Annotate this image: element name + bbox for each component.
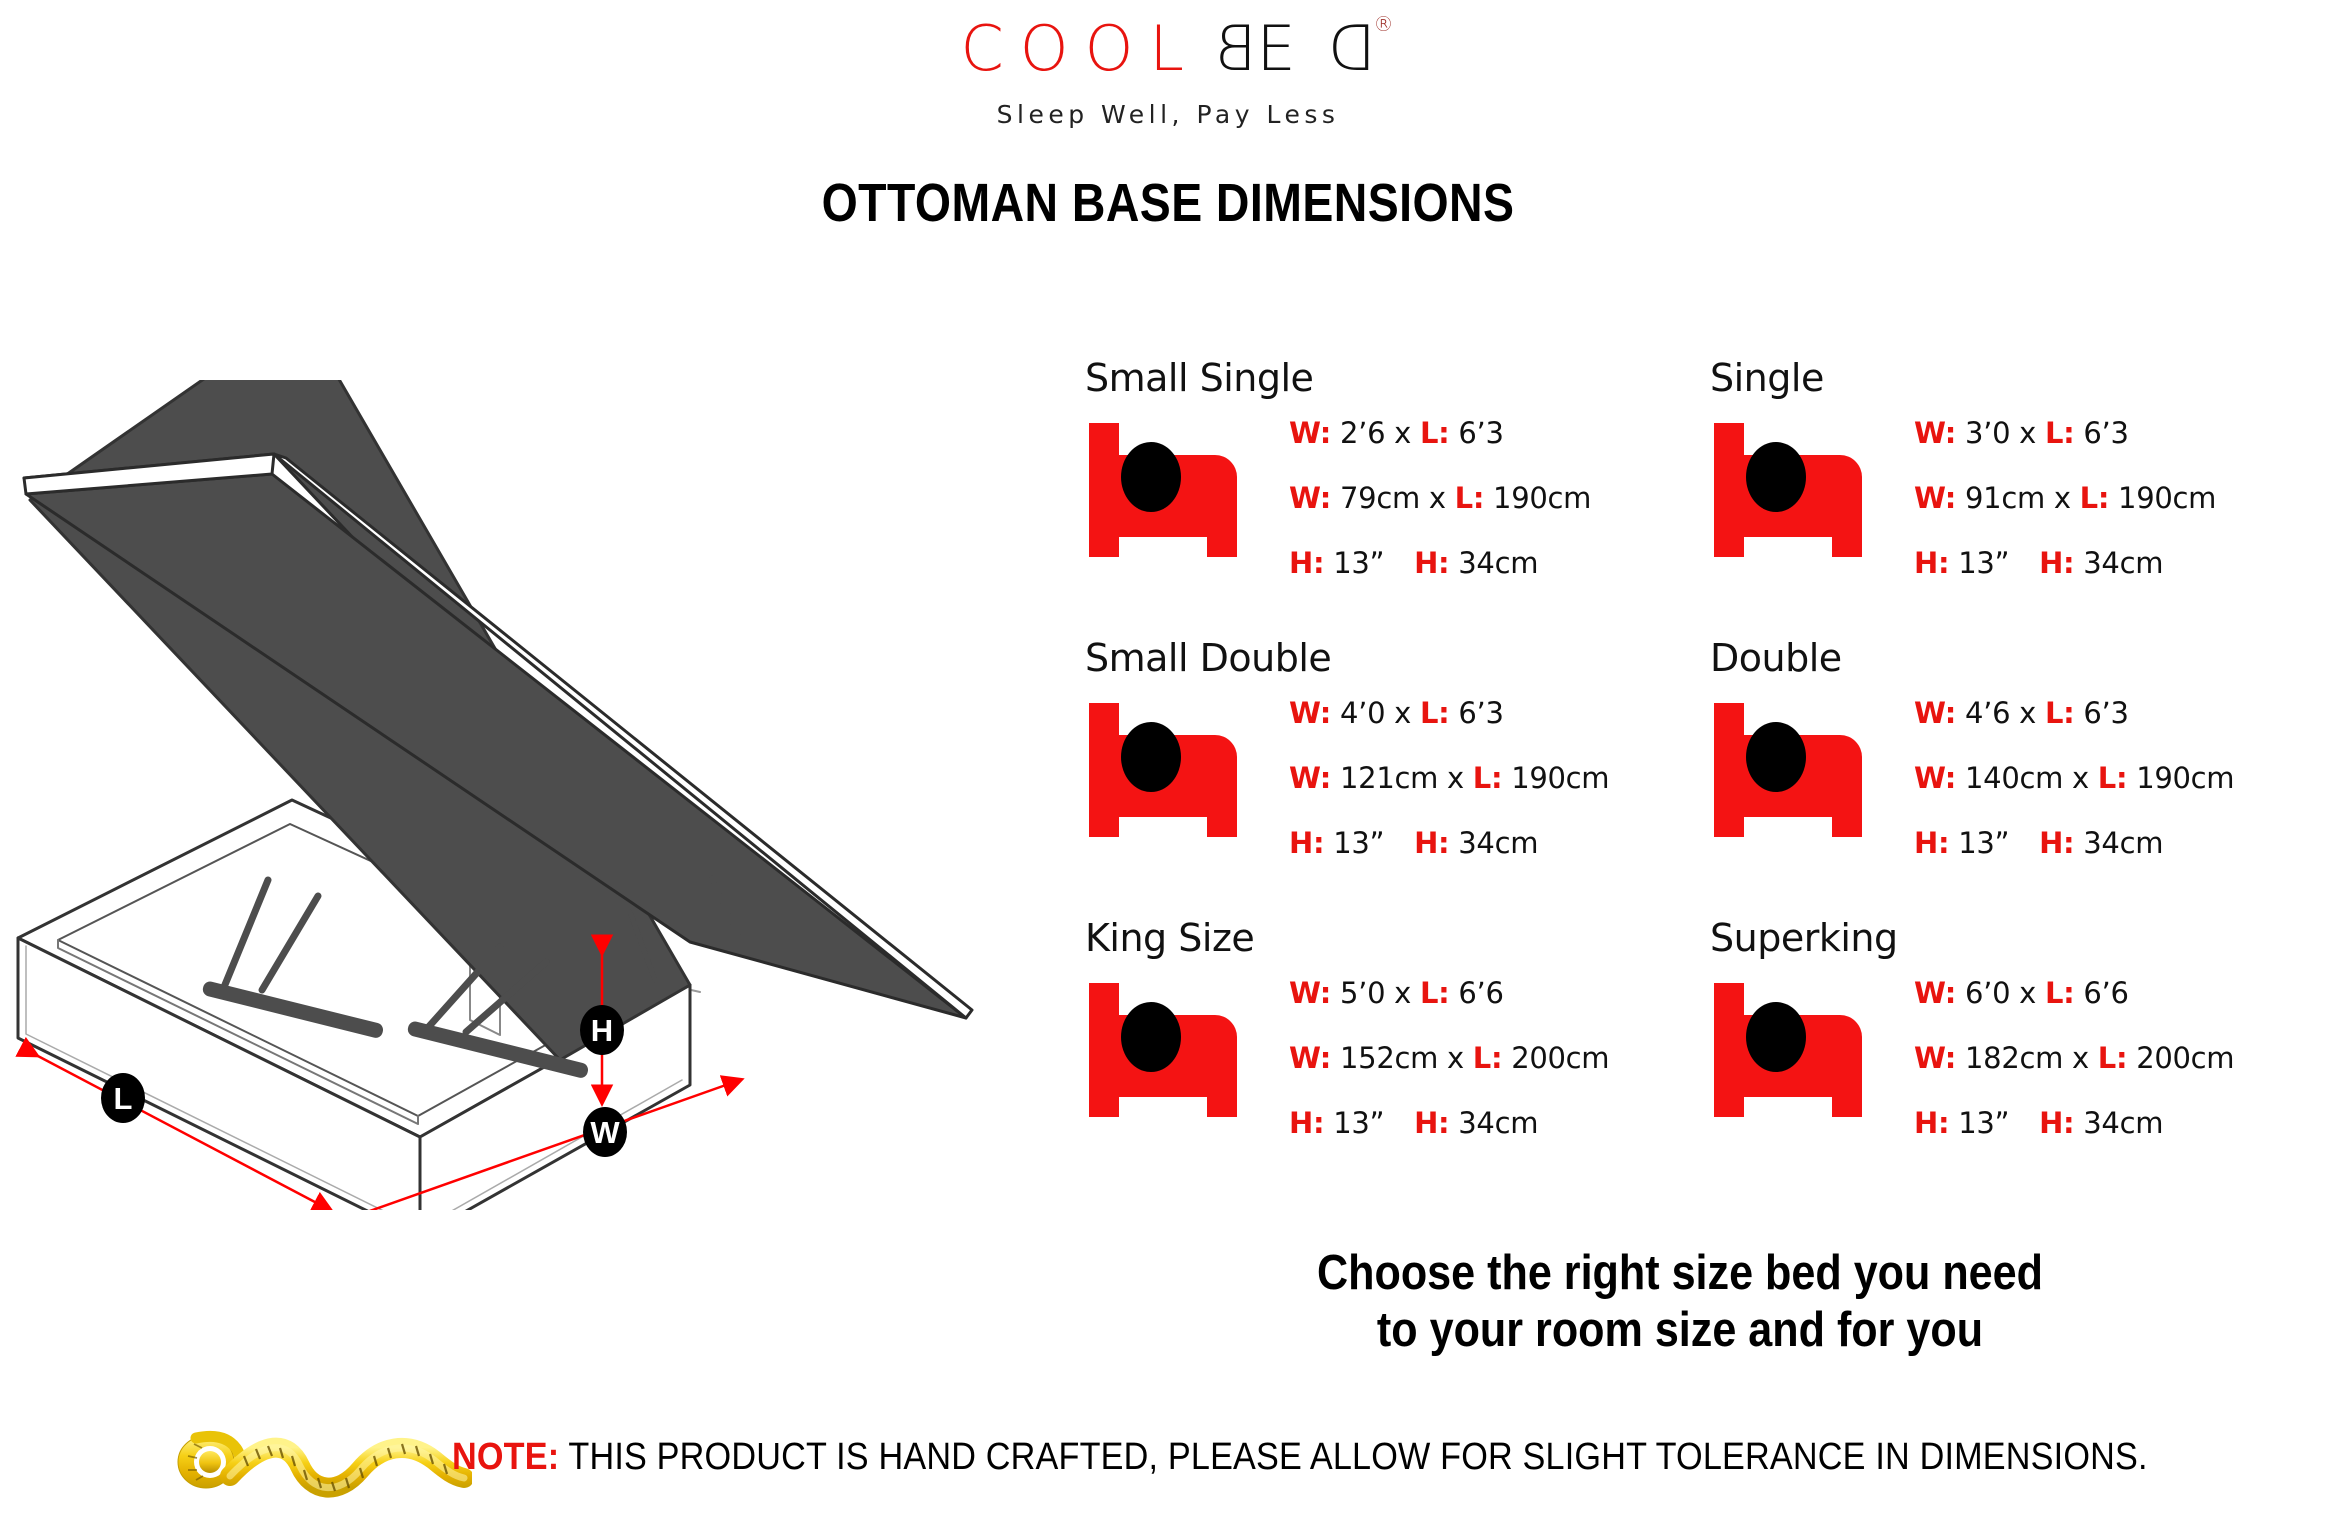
spec-separator: x (2019, 976, 2036, 1010)
size-block-small-single: Small Single W: 2’6 x L: 6’3 W: (1085, 355, 1685, 601)
spec-value-h-imperial: 13” (1958, 1106, 2009, 1140)
spec-line-metric: W: 140cm x L: 190cm (1914, 764, 2314, 793)
spec-key-l: L: (1473, 1041, 1502, 1075)
spec-key-w: W: (1914, 1041, 1956, 1075)
size-block-single: Single W: 3’0 x L: 6’3 W: (1710, 355, 2310, 601)
spec-key-w: W: (1914, 696, 1956, 730)
spec-list: W: 6’0 x L: 6’6 W: 182cm x L: 200cm H: 1… (1914, 979, 2314, 1138)
logo-bed-text: BED (1200, 12, 1376, 85)
spec-line-metric: W: 182cm x L: 200cm (1914, 1044, 2314, 1073)
spec-line-height: H: 13” H: 34cm (1914, 829, 2314, 858)
spec-value-w: 3’0 (1965, 416, 2010, 450)
brand-tagline: Sleep Well, Pay Less (0, 100, 2336, 129)
size-title: Double (1710, 635, 2310, 687)
spec-value-h-metric: 34cm (1458, 826, 1538, 860)
spec-key-l: L: (2045, 696, 2074, 730)
size-title: King Size (1085, 915, 1685, 967)
height-marker-label: H (591, 1013, 613, 1048)
spec-line-height: H: 13” H: 34cm (1914, 549, 2314, 578)
spec-value-l: 6’6 (1458, 976, 1503, 1010)
spec-value-l: 6’3 (1458, 416, 1503, 450)
spec-key-h-imperial: H: (1289, 826, 1324, 860)
spec-key-w: W: (1289, 976, 1331, 1010)
size-title: Single (1710, 355, 2310, 407)
spec-key-w: W: (1289, 761, 1331, 795)
spec-line-height: H: 13” H: 34cm (1914, 1109, 2314, 1138)
spec-line-imperial: W: 5’0 x L: 6’6 (1289, 979, 1689, 1008)
spec-key-w: W: (1914, 481, 1956, 515)
spec-key-h-metric: H: (2039, 1106, 2074, 1140)
spec-separator: x (1394, 696, 1411, 730)
spec-value-w: 6’0 (1965, 976, 2010, 1010)
spec-key-h-imperial: H: (1289, 1106, 1324, 1140)
size-block-double: Double W: 4’6 x L: 6’3 W: (1710, 635, 2310, 881)
spec-value-w: 152cm (1340, 1041, 1438, 1075)
spec-separator: x (1394, 416, 1411, 450)
spec-value-l: 200cm (1511, 1041, 1609, 1075)
spec-value-l: 190cm (1493, 481, 1591, 515)
logo-cool-text: COOL (961, 12, 1200, 85)
spec-list: W: 2’6 x L: 6’3 W: 79cm x L: 190cm H: 13… (1289, 419, 1689, 578)
spec-key-l: L: (2045, 976, 2074, 1010)
spec-value-w: 4’6 (1965, 696, 2010, 730)
header: COOLBED® Sleep Well, Pay Less OTTOMAN BA… (0, 0, 2336, 250)
spec-separator: x (1429, 481, 1446, 515)
spec-value-l: 190cm (2136, 761, 2234, 795)
size-title: Small Single (1085, 355, 1685, 407)
spec-key-w: W: (1914, 761, 1956, 795)
spec-value-l: 6’3 (2083, 416, 2128, 450)
spec-key-h-metric: H: (1414, 826, 1449, 860)
spec-key-l: L: (1420, 976, 1449, 1010)
ottoman-base-diagram: L W H (0, 380, 1060, 1210)
cta-line-1: Choose the right size bed you need (1214, 1245, 2147, 1302)
note-body: THIS PRODUCT IS HAND CRAFTED, PLEASE ALL… (568, 1436, 2147, 1478)
bed-icon (1085, 415, 1270, 575)
spec-value-h-metric: 34cm (2083, 546, 2163, 580)
spec-separator: x (2072, 1041, 2089, 1075)
spec-key-w: W: (1289, 481, 1331, 515)
call-to-action: Choose the right size bed you need to yo… (1214, 1245, 2147, 1359)
spec-value-l: 190cm (1511, 761, 1609, 795)
spec-value-l: 200cm (2136, 1041, 2234, 1075)
spec-key-h-metric: H: (1414, 1106, 1449, 1140)
spec-value-h-imperial: 13” (1958, 826, 2009, 860)
tape-measure-icon (172, 1414, 472, 1510)
spec-separator: x (1447, 1041, 1464, 1075)
spec-line-metric: W: 121cm x L: 190cm (1289, 764, 1689, 793)
spec-line-height: H: 13” H: 34cm (1289, 829, 1689, 858)
spec-line-height: H: 13” H: 34cm (1289, 549, 1689, 578)
size-block-small-double: Small Double W: 4’0 x L: 6’3 W: (1085, 635, 1685, 881)
bed-icon (1710, 695, 1895, 855)
spec-separator: x (1394, 976, 1411, 1010)
spec-key-w: W: (1914, 416, 1956, 450)
spec-key-l: L: (2098, 761, 2127, 795)
spec-separator: x (1447, 761, 1464, 795)
spec-value-w: 79cm (1340, 481, 1420, 515)
spec-value-h-imperial: 13” (1333, 826, 1384, 860)
size-title: Superking (1710, 915, 2310, 967)
spec-value-h-metric: 34cm (1458, 1106, 1538, 1140)
spec-separator: x (2072, 761, 2089, 795)
spec-value-w: 4’0 (1340, 696, 1385, 730)
spec-value-w: 121cm (1340, 761, 1438, 795)
spec-list: W: 4’6 x L: 6’3 W: 140cm x L: 190cm H: 1… (1914, 699, 2314, 858)
spec-list: W: 3’0 x L: 6’3 W: 91cm x L: 190cm H: 13… (1914, 419, 2314, 578)
spec-separator: x (2019, 696, 2036, 730)
bed-icon (1085, 695, 1270, 855)
spec-value-l: 6’3 (2083, 696, 2128, 730)
spec-key-l: L: (1473, 761, 1502, 795)
spec-key-w: W: (1289, 416, 1331, 450)
spec-line-metric: W: 91cm x L: 190cm (1914, 484, 2314, 513)
spec-separator: x (2019, 416, 2036, 450)
size-block-king-size: King Size W: 5’0 x L: 6’6 W: (1085, 915, 1685, 1161)
bed-icon (1085, 975, 1270, 1135)
spec-key-h-imperial: H: (1914, 1106, 1949, 1140)
spec-key-w: W: (1914, 976, 1956, 1010)
spec-key-h-metric: H: (1414, 546, 1449, 580)
spec-key-l: L: (1420, 416, 1449, 450)
spec-value-w: 2’6 (1340, 416, 1385, 450)
spec-key-h-imperial: H: (1914, 546, 1949, 580)
spec-line-metric: W: 79cm x L: 190cm (1289, 484, 1689, 513)
spec-value-h-imperial: 13” (1333, 546, 1384, 580)
width-marker-label: W (590, 1115, 620, 1150)
spec-line-metric: W: 152cm x L: 200cm (1289, 1044, 1689, 1073)
spec-value-w: 91cm (1965, 481, 2045, 515)
logo-text: COOLBED® (961, 18, 1376, 80)
spec-list: W: 4’0 x L: 6’3 W: 121cm x L: 190cm H: 1… (1289, 699, 1689, 858)
spec-line-imperial: W: 2’6 x L: 6’3 (1289, 419, 1689, 448)
spec-value-l: 6’3 (1458, 696, 1503, 730)
spec-value-h-imperial: 13” (1958, 546, 2009, 580)
page-title: OTTOMAN BASE DIMENSIONS (164, 172, 2173, 234)
size-title: Small Double (1085, 635, 1685, 687)
spec-key-h-metric: H: (2039, 546, 2074, 580)
spec-value-w: 140cm (1965, 761, 2063, 795)
spec-key-w: W: (1289, 1041, 1331, 1075)
bed-icon (1710, 415, 1895, 575)
bed-sizes-panel: Small Single W: 2’6 x L: 6’3 W: (1085, 355, 2335, 1195)
spec-list: W: 5’0 x L: 6’6 W: 152cm x L: 200cm H: 1… (1289, 979, 1689, 1138)
spec-value-h-metric: 34cm (2083, 826, 2163, 860)
spec-key-l: L: (1420, 696, 1449, 730)
spec-value-h-metric: 34cm (2083, 1106, 2163, 1140)
bed-icon (1710, 975, 1895, 1135)
spec-line-imperial: W: 3’0 x L: 6’3 (1914, 419, 2314, 448)
footer-note-text: NOTE: THIS PRODUCT IS HAND CRAFTED, PLEA… (452, 1436, 2148, 1479)
brand-logo: COOLBED® (0, 18, 2336, 80)
size-block-superking: Superking W: 6’0 x L: 6’6 W: (1710, 915, 2310, 1161)
spec-key-w: W: (1289, 696, 1331, 730)
spec-line-height: H: 13” H: 34cm (1289, 1109, 1689, 1138)
spec-key-l: L: (2080, 481, 2109, 515)
spec-key-h-imperial: H: (1914, 826, 1949, 860)
spec-value-l: 6’6 (2083, 976, 2128, 1010)
length-marker-label: L (114, 1081, 133, 1116)
spec-value-w: 182cm (1965, 1041, 2063, 1075)
spec-key-h-metric: H: (2039, 826, 2074, 860)
spec-line-imperial: W: 4’0 x L: 6’3 (1289, 699, 1689, 728)
spec-line-imperial: W: 6’0 x L: 6’6 (1914, 979, 2314, 1008)
footer-note-row: NOTE: THIS PRODUCT IS HAND CRAFTED, PLEA… (0, 1412, 2336, 1512)
spec-value-l: 190cm (2118, 481, 2216, 515)
spec-value-w: 5’0 (1340, 976, 1385, 1010)
note-label: NOTE: (452, 1436, 559, 1478)
spec-key-l: L: (2045, 416, 2074, 450)
registered-trademark-icon: ® (1373, 14, 1393, 34)
spec-value-h-metric: 34cm (1458, 546, 1538, 580)
spec-separator: x (2054, 481, 2071, 515)
cta-line-2: to your room size and for you (1214, 1302, 2147, 1359)
spec-key-l: L: (2098, 1041, 2127, 1075)
spec-value-h-imperial: 13” (1333, 1106, 1384, 1140)
spec-key-l: L: (1455, 481, 1484, 515)
spec-line-imperial: W: 4’6 x L: 6’3 (1914, 699, 2314, 728)
spec-key-h-imperial: H: (1289, 546, 1324, 580)
